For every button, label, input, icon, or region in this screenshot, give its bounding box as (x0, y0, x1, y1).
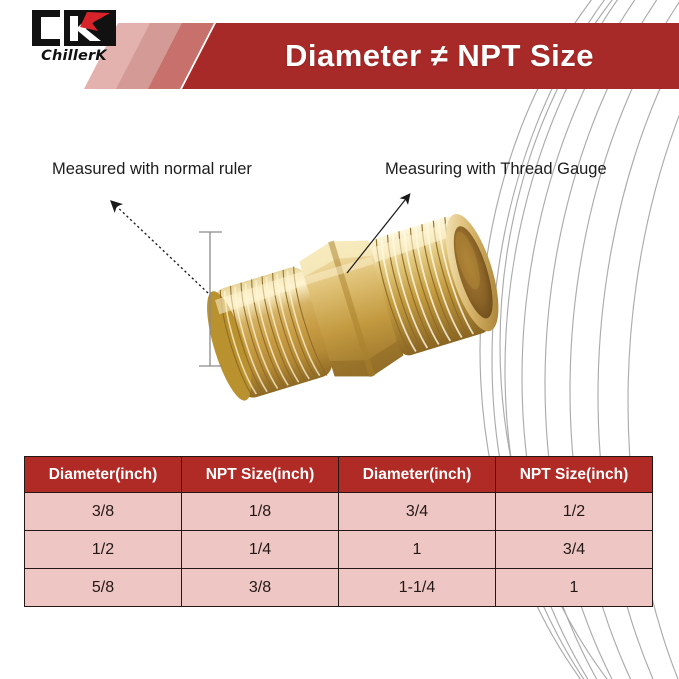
table-cell: 1/2 (25, 531, 182, 569)
table-cell: 3/4 (496, 531, 653, 569)
table-cell: 1 (496, 569, 653, 607)
dotted-arrow-up-left (112, 202, 208, 293)
table-row: 3/8 1/8 3/4 1/2 (25, 493, 653, 531)
table-cell: 3/8 (25, 493, 182, 531)
table-cell: 1/4 (182, 531, 339, 569)
diameter-npt-size-table: Diameter(inch) NPT Size(inch) Diameter(i… (24, 456, 653, 607)
table-header-cell: NPT Size(inch) (182, 457, 339, 493)
table-cell: 3/8 (182, 569, 339, 607)
table-cell: 1 (339, 531, 496, 569)
table-cell: 5/8 (25, 569, 182, 607)
vertical-dimension-bracket (199, 232, 222, 366)
table-cell: 1-1/4 (339, 569, 496, 607)
annotation-label-left: Measured with normal ruler (52, 160, 252, 179)
table-header-cell: Diameter(inch) (339, 457, 496, 493)
brand-name: ChillerK (26, 48, 122, 64)
table-header-row: Diameter(inch) NPT Size(inch) Diameter(i… (25, 457, 653, 493)
brand-logo: ChillerK (26, 8, 122, 70)
table-cell: 1/2 (496, 493, 653, 531)
product-infographic-page: Diameter ≠ NPT Size ChillerK Measured wi… (0, 0, 679, 679)
table-header-cell: Diameter(inch) (25, 457, 182, 493)
table-cell: 3/4 (339, 493, 496, 531)
table-cell: 1/8 (182, 493, 339, 531)
table-row: 1/2 1/4 1 3/4 (25, 531, 653, 569)
table-header-cell: NPT Size(inch) (496, 457, 653, 493)
annotation-label-right: Measuring with Thread Gauge (385, 160, 607, 179)
chillerk-bracket-k-logo-icon (30, 8, 118, 48)
table-row: 5/8 3/8 1-1/4 1 (25, 569, 653, 607)
arrow-up-right (347, 195, 409, 273)
